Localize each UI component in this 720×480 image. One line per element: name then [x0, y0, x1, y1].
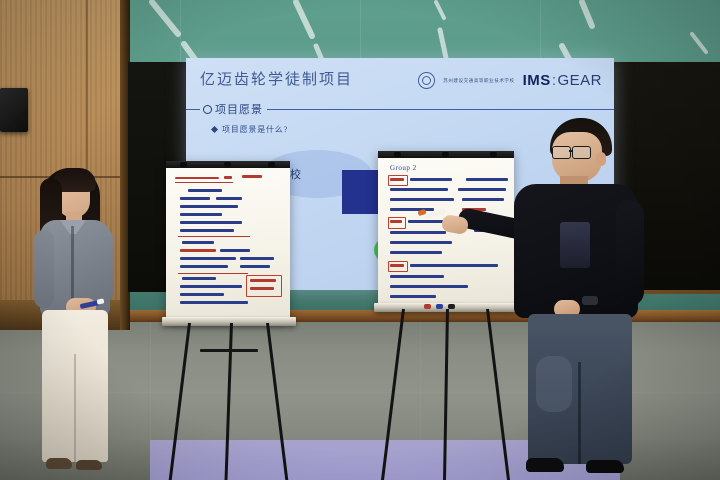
sweatshirt-print	[560, 222, 590, 268]
slide-bullet-row: 项目愿景是什么?	[212, 124, 288, 135]
shoe	[46, 458, 72, 469]
flipchart-clip	[442, 152, 449, 157]
imsgear-logo: IMS:GEAR	[523, 72, 602, 89]
left-flipchart-board	[166, 161, 290, 321]
flipchart-clip	[268, 162, 275, 167]
left-arm	[34, 230, 54, 308]
diamond-bullet-icon	[211, 126, 218, 133]
shoe	[526, 458, 564, 472]
slide-logo-row: 苏州建设交通高等职业技术学校 IMS:GEAR	[418, 72, 602, 89]
right-flipchart-group-label: Group 2	[390, 164, 417, 172]
shoe	[76, 460, 102, 470]
facilitator-left-person	[26, 168, 122, 480]
right-arm	[616, 200, 644, 306]
flipchart-clip	[180, 162, 187, 167]
tray-marker-blue	[436, 304, 443, 309]
flipchart-clip	[224, 162, 231, 167]
glasses-lens-left	[552, 146, 571, 159]
glasses-lens-right	[572, 146, 591, 159]
tray-marker-black	[448, 304, 455, 309]
presenter-right-person	[498, 118, 660, 480]
section-heading-rule: 项目愿景	[186, 102, 614, 116]
right-flipchart-easel: Group 2	[372, 145, 518, 395]
wood-panel-seam-vertical	[86, 0, 88, 176]
classroom-presentation-photo: 亿迈齿轮学徒制项目 苏州建设交通高等职业技术学校 IMS:GEAR 项目愿景 项…	[0, 0, 720, 480]
wristwatch	[582, 296, 598, 305]
wall-speaker	[0, 88, 28, 132]
rule-left-segment	[186, 109, 200, 110]
ring-bullet-icon	[203, 105, 212, 114]
left-flipchart-easel	[160, 155, 296, 395]
university-logo-icon	[418, 72, 435, 89]
tray-marker-red	[424, 304, 431, 309]
rule-right-segment	[267, 109, 614, 110]
slide-bullet-text: 项目愿景是什么?	[222, 124, 288, 135]
slide-section-heading: 项目愿景	[215, 101, 263, 117]
ear	[596, 152, 606, 166]
flipchart-clip	[490, 152, 497, 157]
imsgear-separator: :	[552, 72, 557, 89]
imsgear-primary: IMS	[523, 72, 551, 89]
jeans-fade	[536, 356, 572, 412]
right-arm	[94, 230, 114, 302]
flipchart-clip	[394, 152, 401, 157]
slide-title: 亿迈齿轮学徒制项目	[200, 68, 353, 89]
easel-crossbar	[200, 349, 258, 352]
jeans-seam	[578, 362, 581, 464]
glasses-bridge	[569, 150, 573, 152]
trouser-seam	[74, 354, 76, 462]
university-name-text: 苏州建设交通高等职业技术学校	[443, 78, 514, 84]
imsgear-secondary: GEAR	[557, 72, 602, 89]
shoe	[586, 460, 624, 473]
